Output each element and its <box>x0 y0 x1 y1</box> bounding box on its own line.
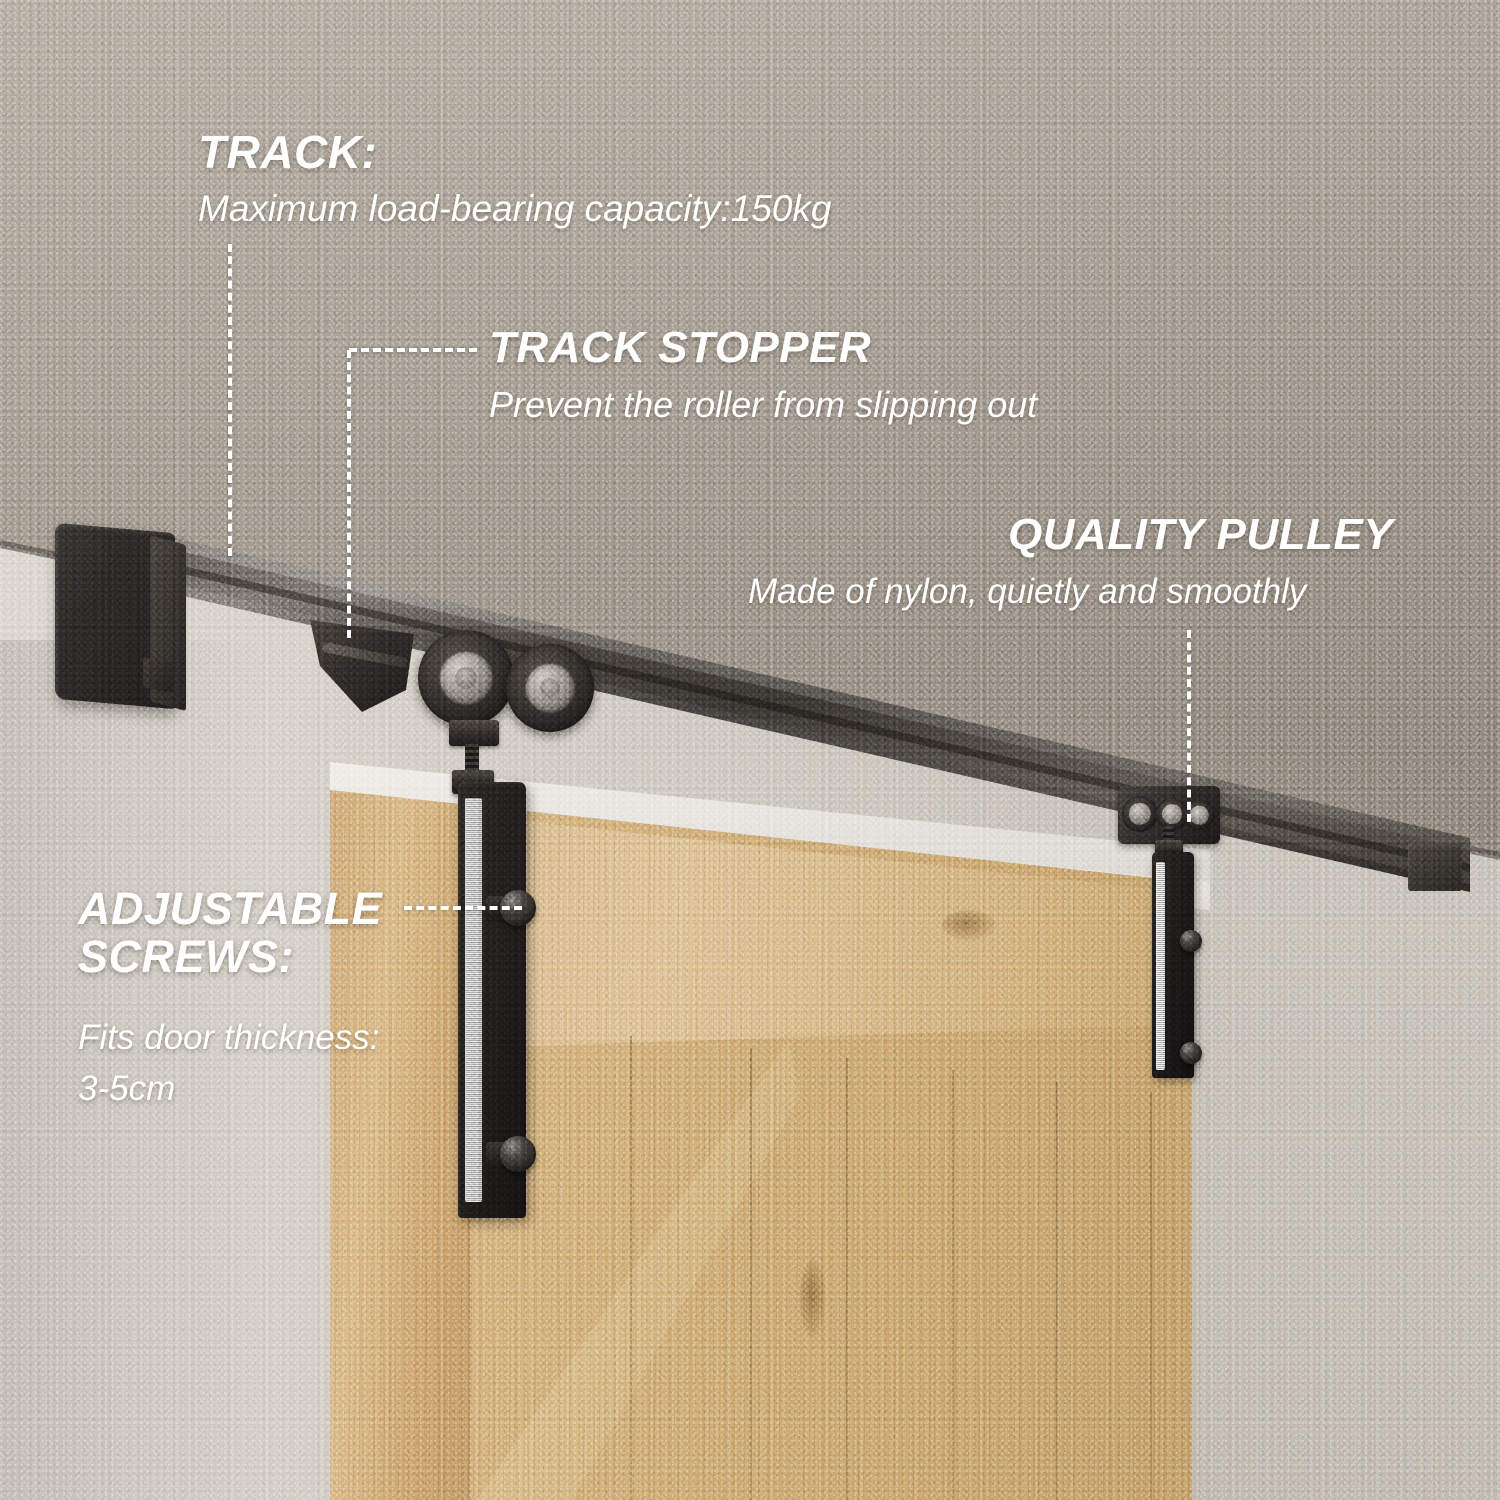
door-plank-seam <box>846 1058 848 1500</box>
adjustable-dome-screw <box>1180 930 1202 952</box>
track-stopper-bracket <box>310 620 420 712</box>
callout-adjustable-screws-title-line1: ADJUSTABLE <box>78 885 408 933</box>
pulley-hub <box>440 652 492 704</box>
door-plank-seam <box>1150 1092 1152 1500</box>
callout-adjustable-screws-subtitle-line2: 3-5cm <box>78 1065 408 1113</box>
pulley-hub <box>1129 803 1151 825</box>
pulley-hub <box>1162 804 1182 824</box>
pulley-hub <box>1190 806 1209 825</box>
door-plank-seam <box>630 1036 632 1500</box>
roller-top-nut <box>449 720 499 746</box>
callout-track-stopper-title: TRACK STOPPER <box>489 325 1037 372</box>
adjustable-dome-screw <box>1180 1042 1202 1064</box>
door-plank-seam <box>952 1070 954 1500</box>
callout-adjustable-screws: ADJUSTABLE SCREWS: Fits door thickness: … <box>78 885 408 1113</box>
wood-knot <box>942 910 996 940</box>
callout-track-stopper: TRACK STOPPER Prevent the roller from sl… <box>489 325 1037 426</box>
callout-track-subtitle: Maximum load-bearing capacity:150kg <box>198 187 831 231</box>
door-plank-seam <box>750 1048 752 1500</box>
nylon-pulley-wheel <box>1184 800 1214 830</box>
adjustable-dome-screw <box>500 1136 536 1172</box>
track-stopper-rib <box>322 642 408 668</box>
callout-quality-pulley-title: QUALITY PULLEY <box>1008 512 1393 559</box>
galvanized-adjust-channel <box>465 798 482 1202</box>
callout-track-title: TRACK: <box>198 128 831 177</box>
nylon-pulley-wheel <box>418 630 514 726</box>
adjustable-dome-screw <box>500 890 536 926</box>
nylon-pulley-wheel <box>506 644 594 732</box>
callout-quality-pulley-subtitle: Made of nylon, quietly and smoothly <box>748 571 1393 612</box>
callout-adjustable-screws-title-line2: SCREWS: <box>78 933 408 981</box>
galvanized-adjust-channel <box>1156 862 1165 1070</box>
callout-quality-pulley: QUALITY PULLEY Made of nylon, quietly an… <box>1008 512 1393 612</box>
callout-track: TRACK: Maximum load-bearing capacity:150… <box>198 128 831 230</box>
nylon-pulley-wheel <box>1122 796 1158 832</box>
wood-knot <box>800 1260 826 1338</box>
infographic-canvas: TRACK: Maximum load-bearing capacity:150… <box>0 0 1500 1500</box>
callout-adjustable-screws-subtitle-line1: Fits door thickness: <box>78 1014 408 1062</box>
door-plank-seam <box>1056 1082 1058 1500</box>
track-end-cap-tab <box>143 657 173 692</box>
callout-track-stopper-subtitle: Prevent the roller from slipping out <box>489 384 1037 426</box>
roller-assembly-left <box>310 612 610 762</box>
pulley-hub <box>526 664 574 712</box>
